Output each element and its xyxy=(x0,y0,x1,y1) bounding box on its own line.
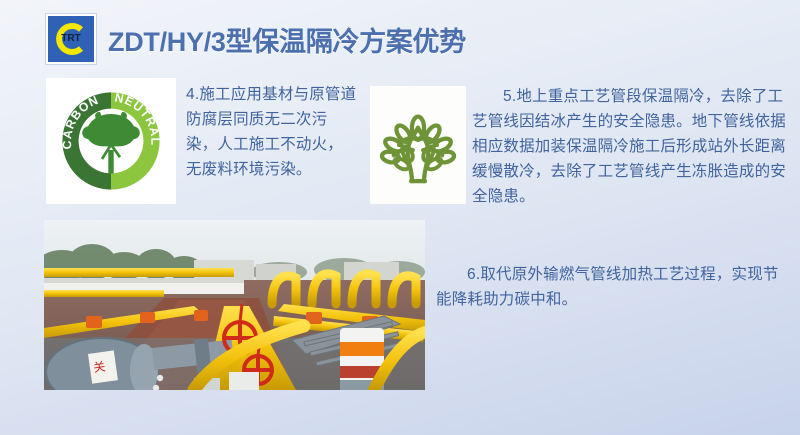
advantage-item-6: 6.取代原外输燃气管线加热工艺过程，实现节能降耗助力碳中和。 xyxy=(436,262,788,312)
carbon-neutral-icon: CARBON NEUTRAL xyxy=(57,87,165,195)
advantage-item-5: 5.地上重点工艺管段保温隔冷，去除了工艺管线因结冰产生的安全隐患。地下管线依据相… xyxy=(472,84,788,210)
trt-logo-icon: TRT xyxy=(46,14,96,64)
slide-canvas: TRT ZDT/HY/3型保温隔冷方案优势 CARBON NEUTRAL xyxy=(0,0,800,435)
advantage-item-4: 4.施工应用基材与原管道防腐层同质无二次污染，人工施工不动火，无废料环境污染。 xyxy=(186,82,358,182)
green-tree-badge xyxy=(370,86,466,204)
tree-icon xyxy=(375,102,461,188)
slide-header: TRT ZDT/HY/3型保温隔冷方案优势 xyxy=(46,14,466,64)
gas-station-photo: 关 xyxy=(44,220,425,390)
gas-station-photo-illustration: 关 xyxy=(44,220,425,390)
valve-tag-text: 关 xyxy=(92,359,106,375)
logo-mark-text: TRT xyxy=(61,34,80,44)
carbon-neutral-badge: CARBON NEUTRAL xyxy=(46,78,176,204)
page-title: ZDT/HY/3型保温隔冷方案优势 xyxy=(108,20,466,59)
